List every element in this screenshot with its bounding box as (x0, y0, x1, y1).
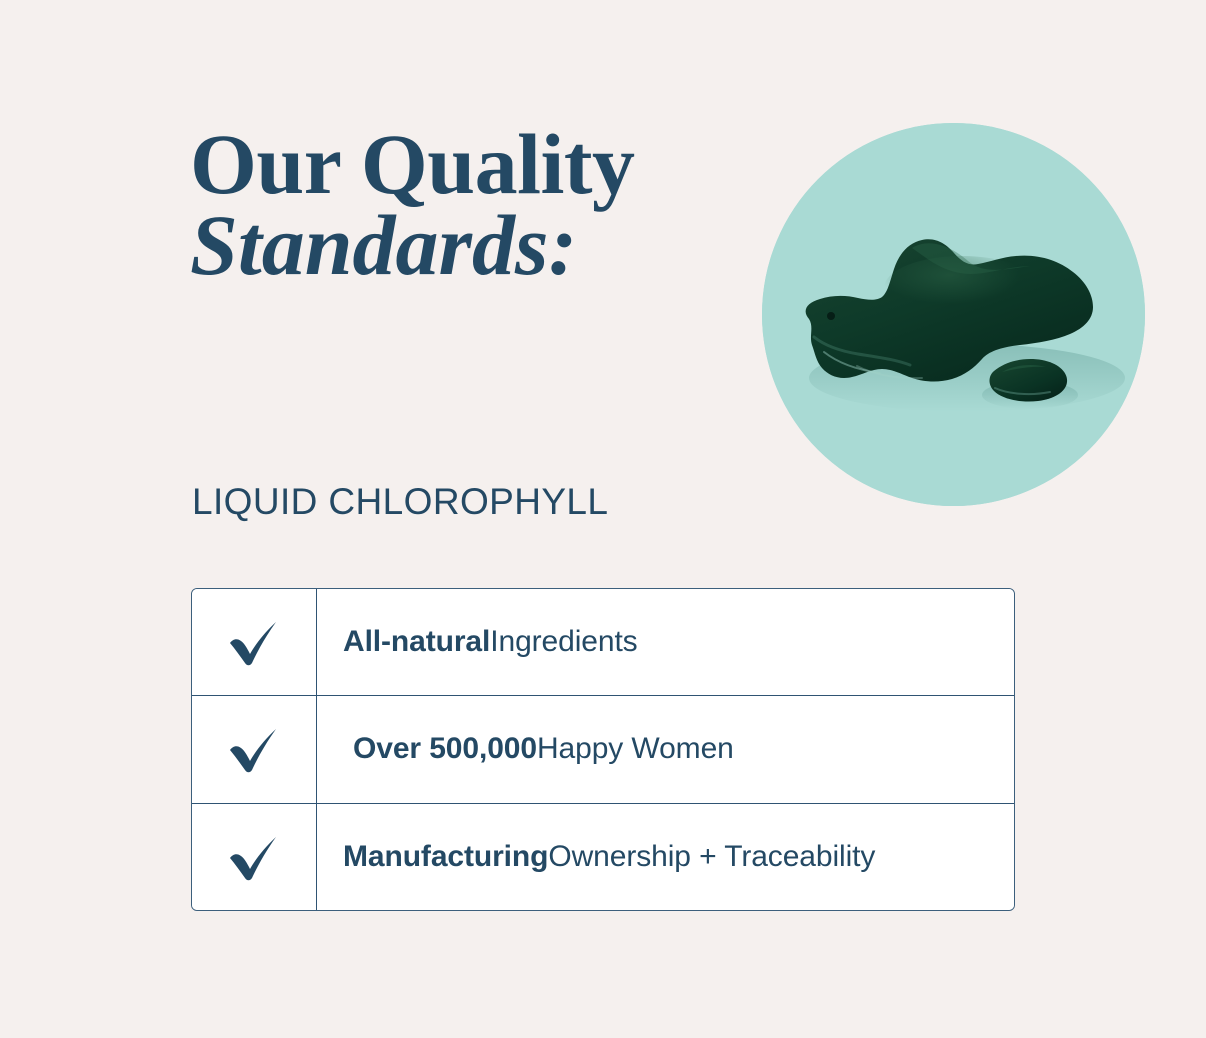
standard-strong-text: All-natural (343, 624, 490, 660)
product-label: LIQUID CHLOROPHYLL (192, 481, 608, 523)
page-title: Our Quality Standards: (190, 122, 750, 288)
standard-rest-text: Ownership + Traceability (548, 839, 875, 875)
quality-standards-card: Our Quality Standards: LIQUID CHLOROPHYL… (0, 0, 1206, 1038)
chlorophyll-liquid-spill-icon (762, 123, 1145, 506)
table-row: All-natural Ingredients (192, 589, 1014, 696)
standard-text-cell: Over 500,000 Happy Women (317, 696, 1014, 802)
standard-rest-text: Happy Women (537, 731, 734, 767)
table-row: Manufacturing Ownership + Traceability (192, 804, 1014, 910)
checkmark-icon (226, 616, 282, 668)
page-title-line-2: Standards: (190, 203, 750, 288)
standard-text-cell: All-natural Ingredients (317, 589, 1014, 695)
checkmark-icon (226, 723, 282, 775)
table-row: Over 500,000 Happy Women (192, 696, 1014, 803)
standard-text-cell: Manufacturing Ownership + Traceability (317, 804, 1014, 910)
checkmark-cell (192, 696, 317, 802)
checkmark-icon (226, 831, 282, 883)
page-title-line-1: Our Quality (190, 122, 750, 207)
standard-rest-text: Ingredients (490, 624, 637, 660)
standard-strong-text: Manufacturing (343, 839, 548, 875)
checkmark-cell (192, 804, 317, 910)
checkmark-cell (192, 589, 317, 695)
standard-strong-text: Over 500,000 (353, 731, 537, 767)
chlorophyll-hero-circle (762, 123, 1145, 506)
quality-standards-table: All-natural Ingredients Over 500,000 Hap… (191, 588, 1015, 911)
